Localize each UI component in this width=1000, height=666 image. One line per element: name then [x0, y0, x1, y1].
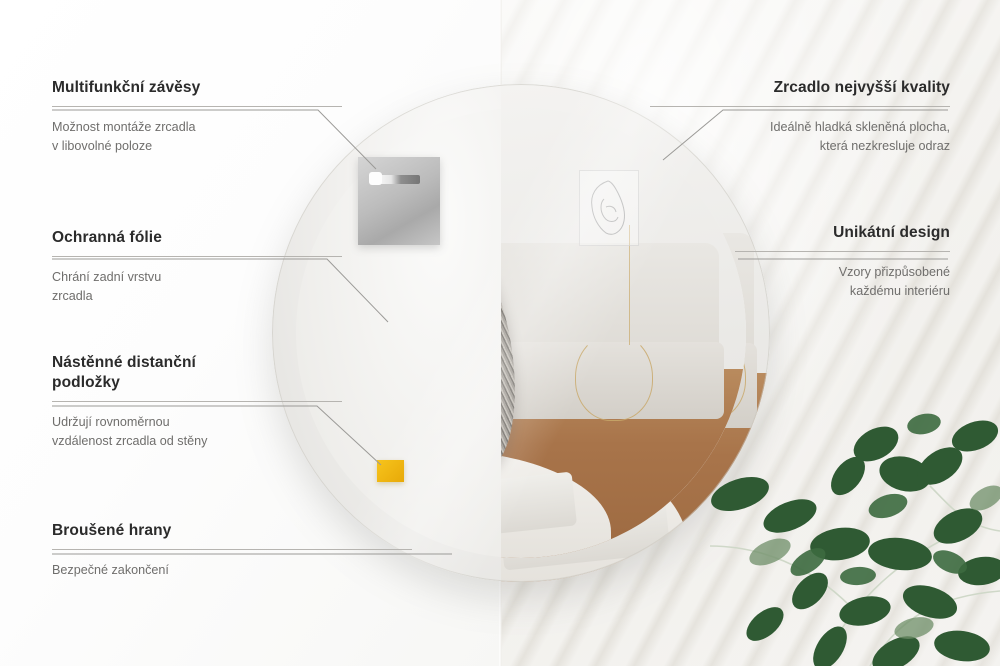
callout-body: Bezpečné zakončení [52, 561, 412, 580]
callout-body: Chrání zadní vrstvu zrcadla [52, 268, 342, 306]
mirror-product [272, 84, 770, 582]
callout-ochranna-folie: Ochranná fólie Chrání zadní vrstvu zrcad… [52, 228, 342, 306]
callout-title: Nástěnné distanční podložky [52, 353, 342, 393]
hanger-plate [358, 157, 440, 245]
callout-rule [735, 251, 950, 252]
callout-rule [650, 106, 950, 107]
callout-body: Možnost montáže zrcadla v libovolné polo… [52, 118, 342, 156]
callout-unikatni-design: Unikátní design Vzory přizpůsobené každé… [735, 223, 950, 301]
callout-rule [52, 256, 342, 257]
callout-rule [52, 401, 342, 402]
callout-title: Unikátní design [735, 223, 950, 243]
callout-rule [52, 549, 412, 550]
callout-body: Udržují rovnoměrnou vzdálenost zrcadla o… [52, 413, 342, 451]
callout-title: Ochranná fólie [52, 228, 342, 248]
callout-multifunkcni-zavesy: Multifunkční závěsy Možnost montáže zrca… [52, 78, 342, 156]
callout-zrcadlo-nejvyssi-kvality: Zrcadlo nejvyšší kvality Ideálně hladká … [650, 78, 950, 156]
mirror-circle [272, 84, 770, 582]
yellow-spacer-pad [377, 460, 404, 482]
plant-foliage [700, 366, 1000, 666]
callout-brousene-hrany: Broušené hrany Bezpečné zakončení [52, 521, 412, 580]
callout-body: Vzory přizpůsobené každému interiéru [735, 263, 950, 301]
callout-title: Multifunkční závěsy [52, 78, 342, 98]
callout-rule [52, 106, 342, 107]
callout-title: Broušené hrany [52, 521, 412, 541]
infographic-canvas: Multifunkční závěsy Možnost montáže zrca… [0, 0, 1000, 666]
brand-sticker [579, 170, 639, 246]
hanger-keyhole-slot [372, 175, 420, 184]
callout-nastenne-distancni-podlozky: Nástěnné distanční podložky Udržují rovn… [52, 353, 342, 450]
callout-title: Zrcadlo nejvyšší kvality [650, 78, 950, 98]
callout-body: Ideálně hladká skleněná plocha, která ne… [650, 118, 950, 156]
